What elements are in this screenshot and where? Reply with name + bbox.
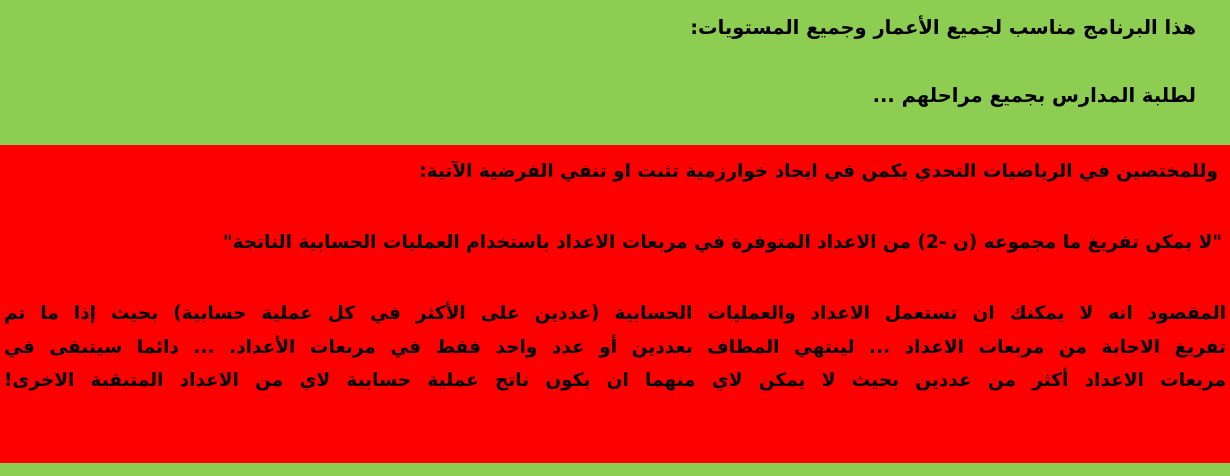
explanation-paragraph: المقصود انه لا يمكنك ان تستعمل الاعداد و… (4, 297, 1226, 398)
slide-page: هذا البرنامج مناسب لجميع الأعمار وجميع ا… (0, 0, 1230, 476)
explanation-line: مربعات الاعداد أكثر من عددين بحيث لا يمك… (4, 364, 1226, 398)
intro-line-students: لطلبة المدارس بجميع مراحلهم ... (873, 84, 1196, 107)
hypothesis-statement: "لا يمكن تفريغ ما مجموعه (ن -2) من الاعد… (223, 232, 1222, 254)
challenge-heading: وللمختصين في الرياضيات التحدي يكمن في اي… (419, 161, 1218, 183)
intro-green-band: هذا البرنامج مناسب لجميع الأعمار وجميع ا… (0, 0, 1230, 145)
bottom-green-strip (0, 463, 1230, 476)
challenge-red-band: وللمختصين في الرياضيات التحدي يكمن في اي… (0, 145, 1230, 463)
intro-line-audience: هذا البرنامج مناسب لجميع الأعمار وجميع ا… (690, 16, 1196, 39)
explanation-line: المقصود انه لا يمكنك ان تستعمل الاعداد و… (4, 297, 1226, 331)
explanation-line: تفريغ الاجابة من مربعات الاعداد ... لينت… (4, 331, 1226, 365)
